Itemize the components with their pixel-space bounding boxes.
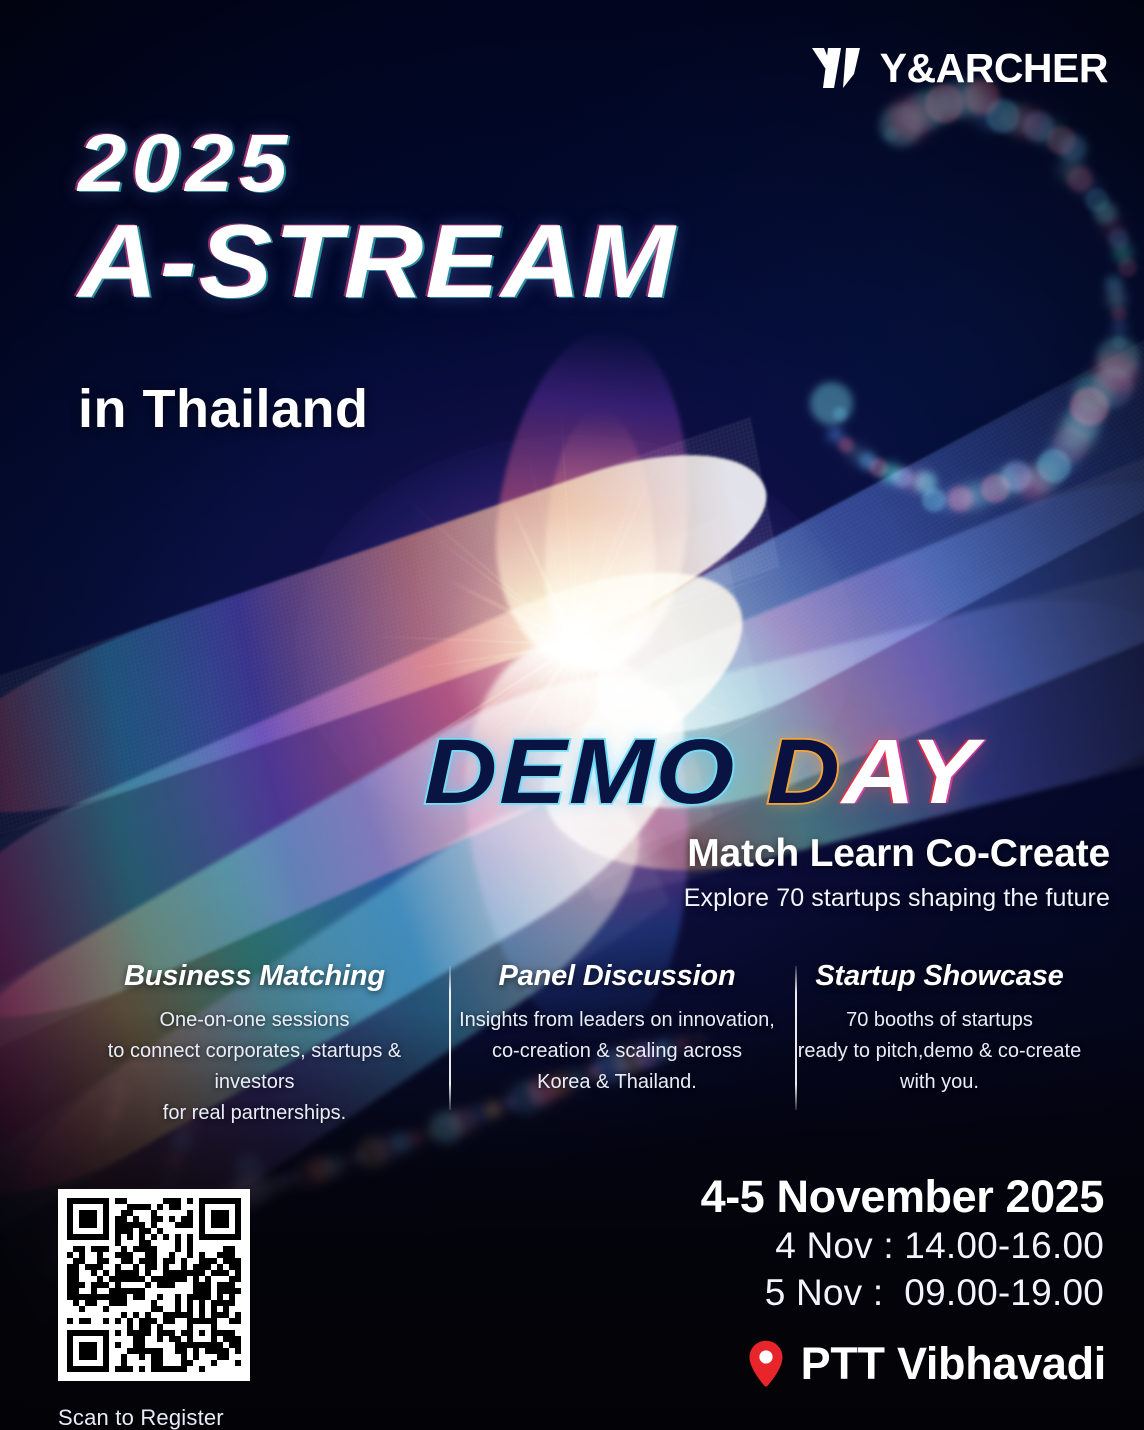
hero-subtagline: Explore 70 startups shaping the future — [684, 884, 1110, 913]
feature-columns: Business Matching One-on-one sessions to… — [62, 960, 1092, 1120]
day-word-d: D — [767, 721, 842, 823]
headline-location: in Thailand — [78, 378, 369, 440]
headline-program: A-STREAM — [78, 215, 677, 311]
qr-code[interactable] — [67, 1198, 241, 1372]
day-word-ay: AY — [842, 721, 979, 823]
schedule-day2: 5 Nov : 09.00-19.00 — [701, 1269, 1104, 1316]
qr-caption: Scan to Register — [58, 1405, 250, 1430]
brand-logo: Y&ARCHER — [810, 44, 1108, 92]
feature-divider-1 — [449, 966, 451, 1110]
feature-title: Startup Showcase — [797, 960, 1082, 993]
location-pin-icon — [747, 1340, 785, 1388]
headline-year: 2025 — [78, 126, 677, 201]
event-poster: Y&ARCHER 2025 A-STREAM in Thailand DEMO … — [0, 0, 1144, 1430]
feature-panel-discussion: Panel Discussion Insights from leaders o… — [447, 960, 787, 1098]
schedule-block: 4-5 November 2025 4 Nov : 14.00-16.00 5 … — [701, 1172, 1104, 1316]
qr-code-frame[interactable] — [58, 1189, 250, 1381]
feature-title: Business Matching — [72, 960, 437, 993]
hero-tagline: Match Learn Co-Create — [687, 832, 1110, 876]
schedule-date-range: 4-5 November 2025 — [701, 1172, 1104, 1222]
demo-word: DEMO — [424, 721, 736, 823]
feature-business-matching: Business Matching One-on-one sessions to… — [62, 960, 447, 1129]
feature-body: 70 booths of startups ready to pitch,dem… — [797, 1005, 1082, 1098]
schedule-day1: 4 Nov : 14.00-16.00 — [701, 1222, 1104, 1269]
venue-name: PTT Vibhavadi — [801, 1338, 1106, 1390]
feature-body: Insights from leaders on innovation, co-… — [457, 1005, 777, 1098]
feature-startup-showcase: Startup Showcase 70 booths of startups r… — [787, 960, 1092, 1098]
yarcher-logo-mark-icon — [810, 44, 866, 92]
qr-register-block[interactable]: Scan to Register — [58, 1189, 250, 1430]
feature-divider-2 — [795, 966, 797, 1110]
feature-title: Panel Discussion — [457, 960, 777, 993]
demo-day-title: DEMO DAY — [424, 726, 980, 818]
feature-body: One-on-one sessions to connect corporate… — [72, 1005, 437, 1129]
headline-block: 2025 A-STREAM — [78, 126, 643, 311]
brand-logo-text: Y&ARCHER — [880, 48, 1108, 89]
venue-block: PTT Vibhavadi — [747, 1338, 1106, 1390]
